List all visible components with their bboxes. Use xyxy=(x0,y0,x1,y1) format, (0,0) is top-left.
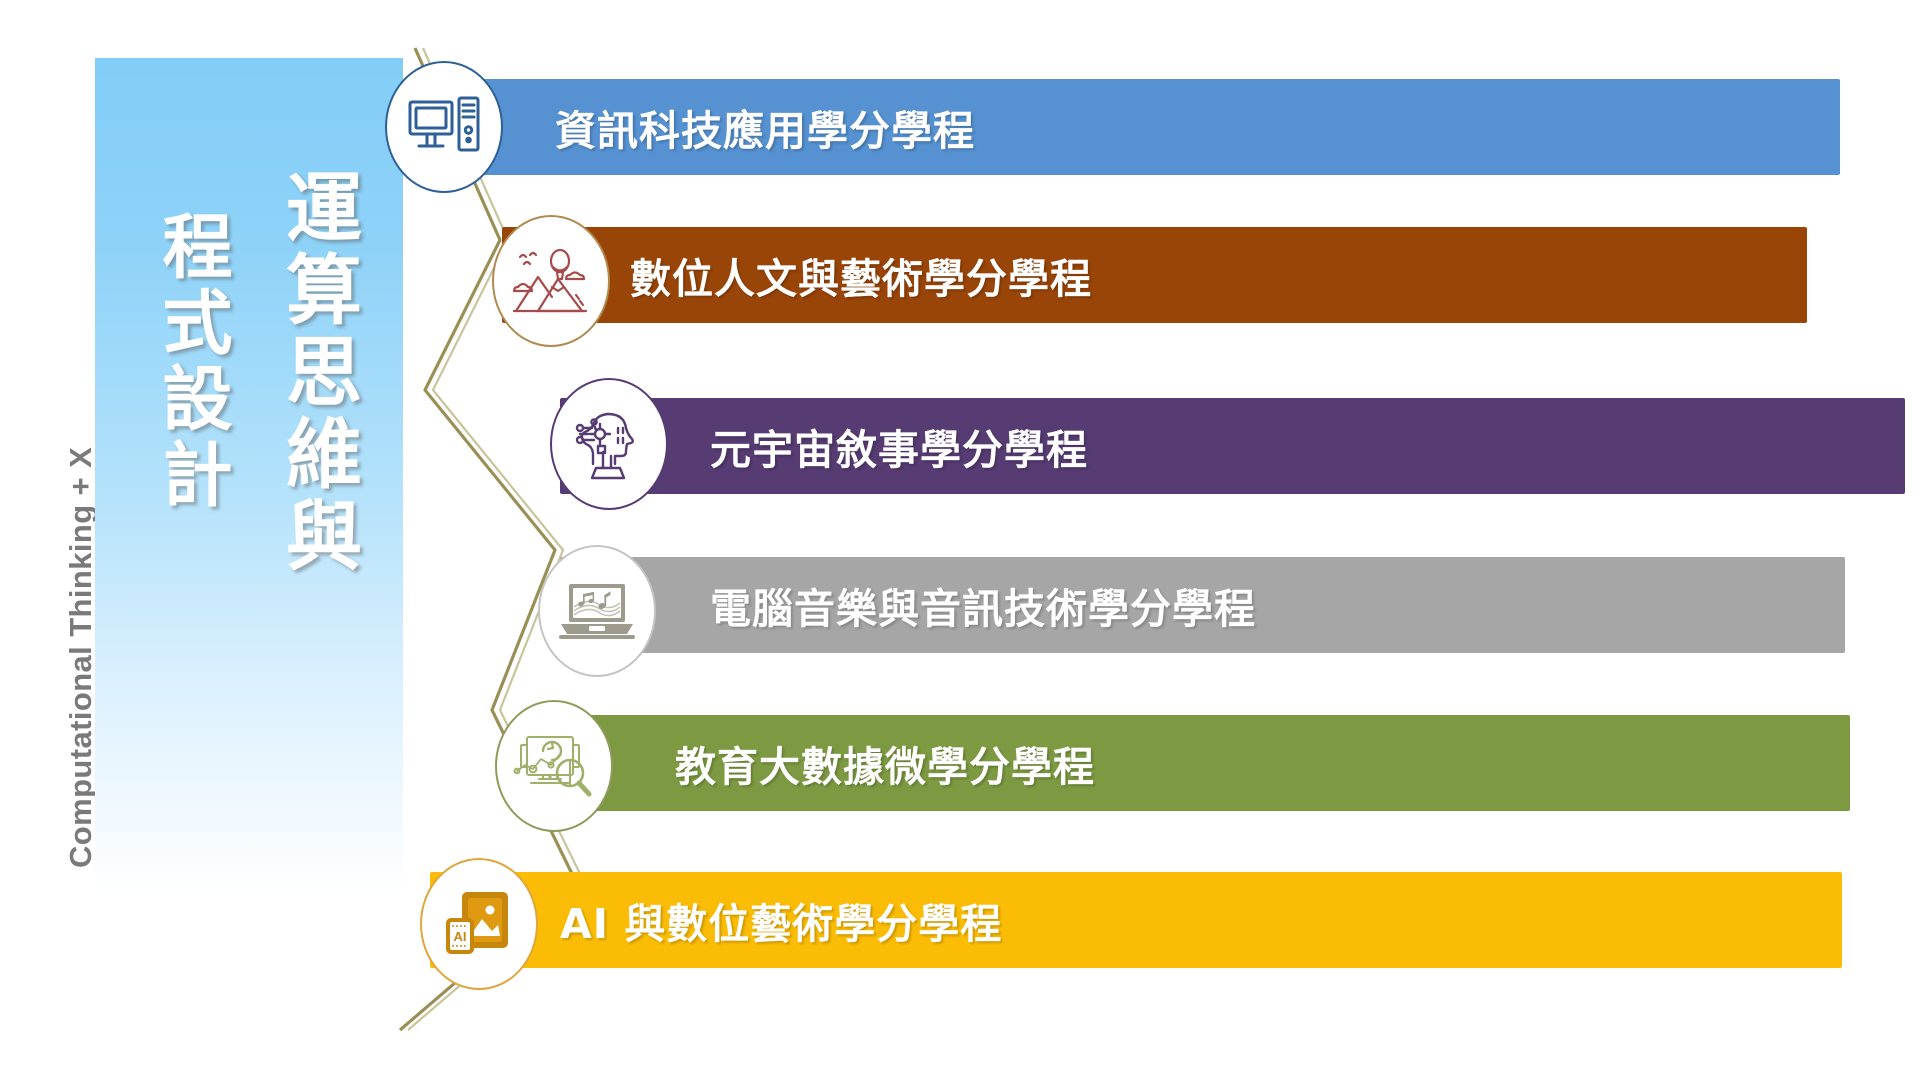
desktop-computer-icon xyxy=(407,94,481,160)
title-vertical-secondary: 程式設計 xyxy=(142,210,243,514)
program-bar-6[interactable]: AI 與數位藝術學分學程 xyxy=(430,872,1842,968)
ai-head-circuit-icon xyxy=(570,406,648,482)
program-label-1: 資訊科技應用學分學程 xyxy=(555,97,975,157)
program-label-3: 元宇宙敘事學分學程 xyxy=(710,416,1088,476)
ai-image-frame-icon: AI xyxy=(442,888,516,960)
program-label-6: AI 與數位藝術學分學程 xyxy=(560,890,1002,950)
program-bar-3[interactable]: 元宇宙敘事學分學程 xyxy=(560,398,1905,494)
program-icon-badge-1[interactable] xyxy=(385,61,503,193)
slide-canvas: Computational Thinking + X 運算思維與 程式設計 資訊… xyxy=(0,0,1920,1080)
program-icon-badge-4[interactable] xyxy=(538,545,656,677)
title-vertical-primary: 運算思維與 xyxy=(262,168,372,578)
program-icon-badge-2[interactable] xyxy=(492,215,610,347)
program-label-5: 教育大數據微學分學程 xyxy=(675,733,1095,793)
data-monitor-magnifier-icon xyxy=(513,731,595,801)
program-label-2: 數位人文與藝術學分學程 xyxy=(630,245,1092,305)
program-icon-badge-6[interactable]: AI xyxy=(420,858,538,990)
mountain-balloon-icon xyxy=(512,245,590,317)
program-bar-5[interactable]: 教育大數據微學分學程 xyxy=(525,715,1850,811)
program-bar-1[interactable]: 資訊科技應用學分學程 xyxy=(435,79,1840,175)
program-bar-4[interactable]: 電腦音樂與音訊技術學分學程 xyxy=(560,557,1845,653)
program-icon-badge-5[interactable] xyxy=(495,700,613,832)
program-icon-badge-3[interactable] xyxy=(550,378,668,510)
svg-text:AI: AI xyxy=(454,929,467,944)
laptop-music-icon xyxy=(557,580,637,642)
program-bar-2[interactable]: 數位人文與藝術學分學程 xyxy=(502,227,1807,323)
program-label-4: 電腦音樂與音訊技術學分學程 xyxy=(710,575,1256,635)
